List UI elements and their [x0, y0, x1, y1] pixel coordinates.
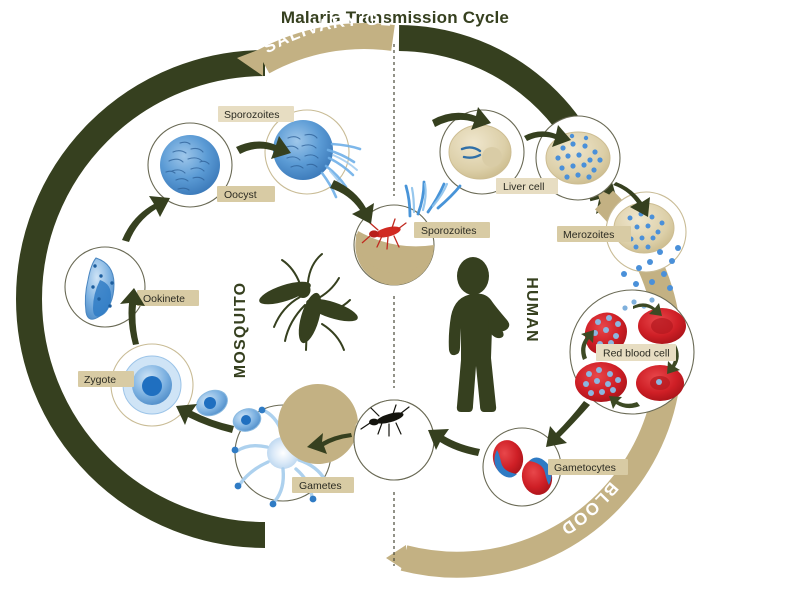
- svg-text:Zygote: Zygote: [84, 374, 116, 386]
- svg-text:Sporozoites: Sporozoites: [224, 109, 279, 121]
- ring-salivary-gland: [237, 36, 393, 76]
- callout-oocyst: Oocyst: [217, 186, 275, 202]
- sporozoite-spray: [406, 182, 460, 216]
- svg-text:Liver cell: Liver cell: [503, 181, 544, 193]
- callout-gametocytes: Gametocytes: [548, 459, 628, 475]
- callout-sporozoites-human: Sporozoites: [414, 222, 490, 238]
- human-icon: [449, 257, 510, 412]
- svg-text:Ookinete: Ookinete: [143, 293, 185, 305]
- rbc-healthy-1: [638, 308, 686, 344]
- callout-merozoites: Merozoites: [557, 226, 631, 242]
- callout-gametes: Gametes: [292, 477, 354, 493]
- svg-text:Oocyst: Oocyst: [224, 189, 257, 201]
- host-label-mosquito: MOSQUITO: [232, 282, 249, 378]
- callout-zygote: Zygote: [78, 371, 134, 387]
- callout-ookinete: Ookinete: [137, 290, 199, 306]
- host-label-human: HUMAN: [523, 277, 540, 343]
- callout-sporozoites-mosquito: Sporozoites: [218, 106, 294, 122]
- mosquito-icon: [257, 254, 360, 350]
- rbc-schizont: [575, 362, 627, 402]
- svg-text:Gametes: Gametes: [299, 480, 342, 492]
- node-red-blood-cell[interactable]: Red blood cell: [570, 290, 694, 414]
- svg-text:Red blood cell: Red blood cell: [603, 348, 670, 360]
- svg-text:Gametocytes: Gametocytes: [554, 462, 616, 474]
- diagram-canvas: Malaria Transmission Cycle: [0, 0, 790, 596]
- malaria-cycle-svg: SALIVARY GLAND LIVER BLOOD GUT: [0, 0, 790, 596]
- svg-text:Sporozoites: Sporozoites: [421, 225, 476, 237]
- callout-liver-cell: Liver cell: [496, 178, 558, 194]
- svg-text:Merozoites: Merozoites: [563, 229, 614, 241]
